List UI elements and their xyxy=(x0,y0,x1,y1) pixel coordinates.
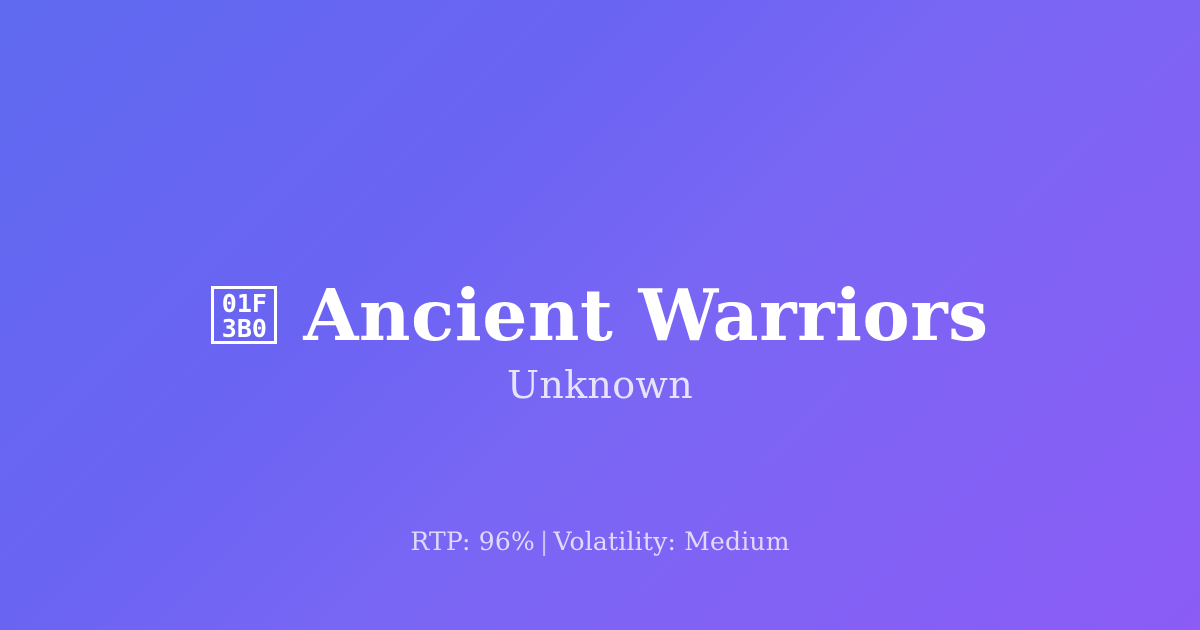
volatility-label: Volatility: Medium xyxy=(554,527,790,556)
tofu-codepoint-line-1: 01F xyxy=(222,291,267,316)
og-share-card: 01F 3B0 Ancient Warriors Unknown RTP: 96… xyxy=(0,0,1200,630)
meta-separator: | xyxy=(535,527,554,556)
headline-row: 01F 3B0 Ancient Warriors xyxy=(0,232,1200,398)
rtp-label: RTP: 96% xyxy=(410,527,535,556)
slot-machine-emoji-icon: 01F 3B0 xyxy=(211,286,277,344)
game-meta-line: RTP: 96%|Volatility: Medium xyxy=(0,527,1200,556)
game-title: Ancient Warriors xyxy=(303,280,988,351)
card-content: 01F 3B0 Ancient Warriors Unknown RTP: 96… xyxy=(0,0,1200,630)
provider-subtitle: Unknown xyxy=(0,363,1200,407)
tofu-codepoint-line-2: 3B0 xyxy=(222,316,267,341)
